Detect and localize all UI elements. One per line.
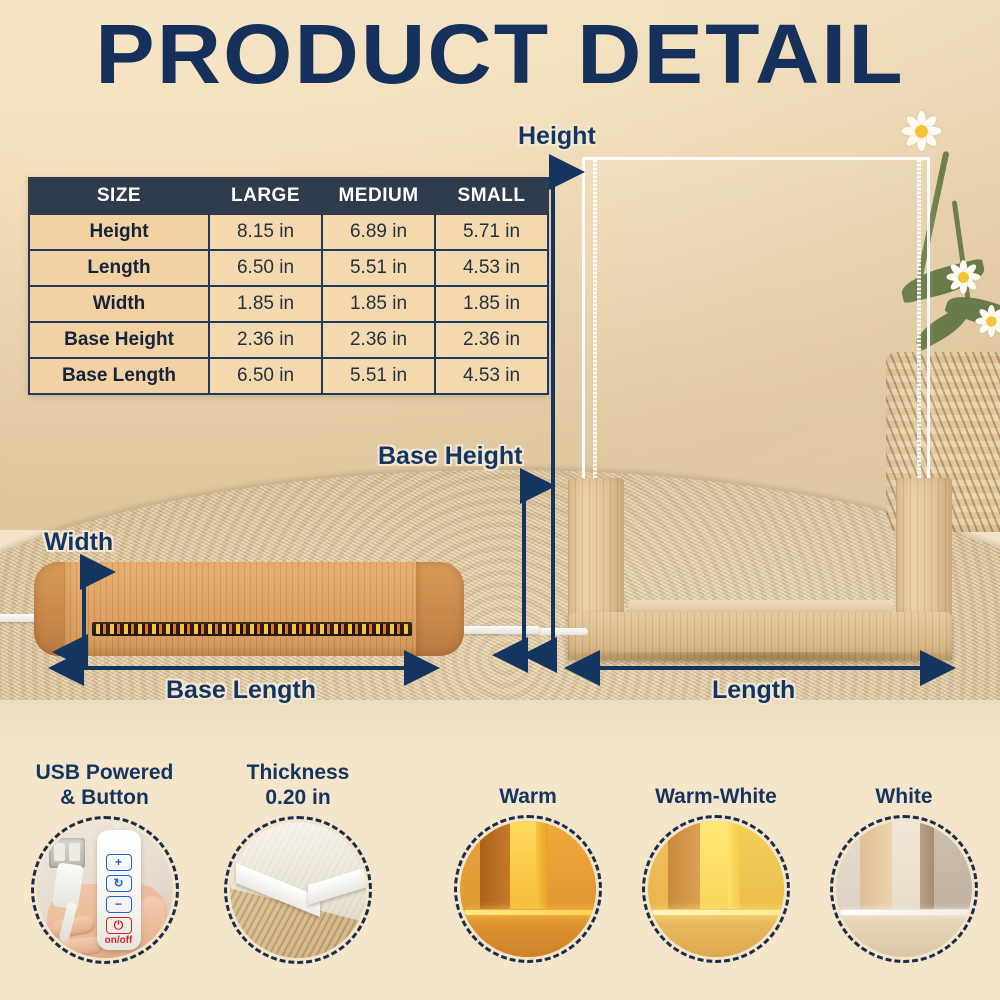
cell-large: 2.36 in xyxy=(209,322,322,358)
measure-label-base-length: Base Length xyxy=(166,676,316,705)
cell-medium: 2.36 in xyxy=(322,322,435,358)
row-label: Base Length xyxy=(29,358,209,394)
white-light-photo xyxy=(830,815,978,963)
table-row: Base Length 6.50 in 5.51 in 4.53 in xyxy=(29,358,548,394)
measure-label-base-height: Base Height xyxy=(378,442,522,471)
cell-large: 8.15 in xyxy=(209,214,322,250)
feature-thickness: Thickness 0.20 in xyxy=(222,760,374,964)
row-label: Width xyxy=(29,286,209,322)
cell-small: 4.53 in xyxy=(435,358,548,394)
col-header-small: SMALL xyxy=(435,178,548,214)
light-mode-white: White xyxy=(828,784,980,963)
warm-light-photo xyxy=(454,815,602,963)
feature-label-line1: Thickness xyxy=(222,760,374,785)
size-spec-table: SIZE LARGE MEDIUM SMALL Height 8.15 in 6… xyxy=(28,177,549,395)
cell-small: 2.36 in xyxy=(435,322,548,358)
cell-medium: 5.51 in xyxy=(322,250,435,286)
onoff-label: on/off xyxy=(97,935,141,946)
cell-small: 1.85 in xyxy=(435,286,548,322)
col-header-size: SIZE xyxy=(29,178,209,214)
plus-button-icon: + xyxy=(106,854,132,871)
feature-label-line2: & Button xyxy=(27,785,182,810)
finger xyxy=(137,896,167,958)
cell-medium: 6.89 in xyxy=(322,214,435,250)
light-mode-warm-white: Warm-White xyxy=(640,784,792,963)
cell-medium: 1.85 in xyxy=(322,286,435,322)
minus-button-icon: − xyxy=(106,896,132,913)
cell-medium: 5.51 in xyxy=(322,358,435,394)
power-button-icon: ⏻ xyxy=(106,917,132,934)
table-row: Length 6.50 in 5.51 in 4.53 in xyxy=(29,250,548,286)
table-row: Base Height 2.36 in 2.36 in 2.36 in xyxy=(29,322,548,358)
usb-controller-photo: + ↻ − ⏻ on/off xyxy=(31,816,179,964)
cell-large: 6.50 in xyxy=(209,358,322,394)
light-mode-label: White xyxy=(828,784,980,809)
table-header-row: SIZE LARGE MEDIUM SMALL xyxy=(29,178,548,214)
acrylic-edge-photo xyxy=(224,816,372,964)
table-row: Width 1.85 in 1.85 in 1.85 in xyxy=(29,286,548,322)
cell-small: 5.71 in xyxy=(435,214,548,250)
feature-band: USB Powered & Button + ↻ − xyxy=(0,752,1000,1000)
page-title: PRODUCT DETAIL xyxy=(0,12,1000,96)
warm-white-light-photo xyxy=(642,815,790,963)
light-mode-warm: Warm xyxy=(452,784,604,963)
cycle-button-icon: ↻ xyxy=(106,875,132,892)
col-header-medium: MEDIUM xyxy=(322,178,435,214)
light-mode-label: Warm-White xyxy=(640,784,792,809)
cell-large: 6.50 in xyxy=(209,250,322,286)
table-row: Height 8.15 in 6.89 in 5.71 in xyxy=(29,214,548,250)
measure-label-length: Length xyxy=(712,676,795,705)
row-label: Length xyxy=(29,250,209,286)
cell-small: 4.53 in xyxy=(435,250,548,286)
row-label: Base Height xyxy=(29,322,209,358)
feature-label-line1: USB Powered xyxy=(27,760,182,785)
inline-controller: + ↻ − ⏻ on/off xyxy=(97,830,141,950)
row-label: Height xyxy=(29,214,209,250)
col-header-large: LARGE xyxy=(209,178,322,214)
feature-usb-powered: USB Powered & Button + ↻ − xyxy=(27,760,182,964)
feature-label-line2: 0.20 in xyxy=(222,785,374,810)
light-mode-label: Warm xyxy=(452,784,604,809)
cell-large: 1.85 in xyxy=(209,286,322,322)
product-detail-infographic: Height xyxy=(0,0,1000,1000)
measure-label-width: Width xyxy=(44,528,113,557)
